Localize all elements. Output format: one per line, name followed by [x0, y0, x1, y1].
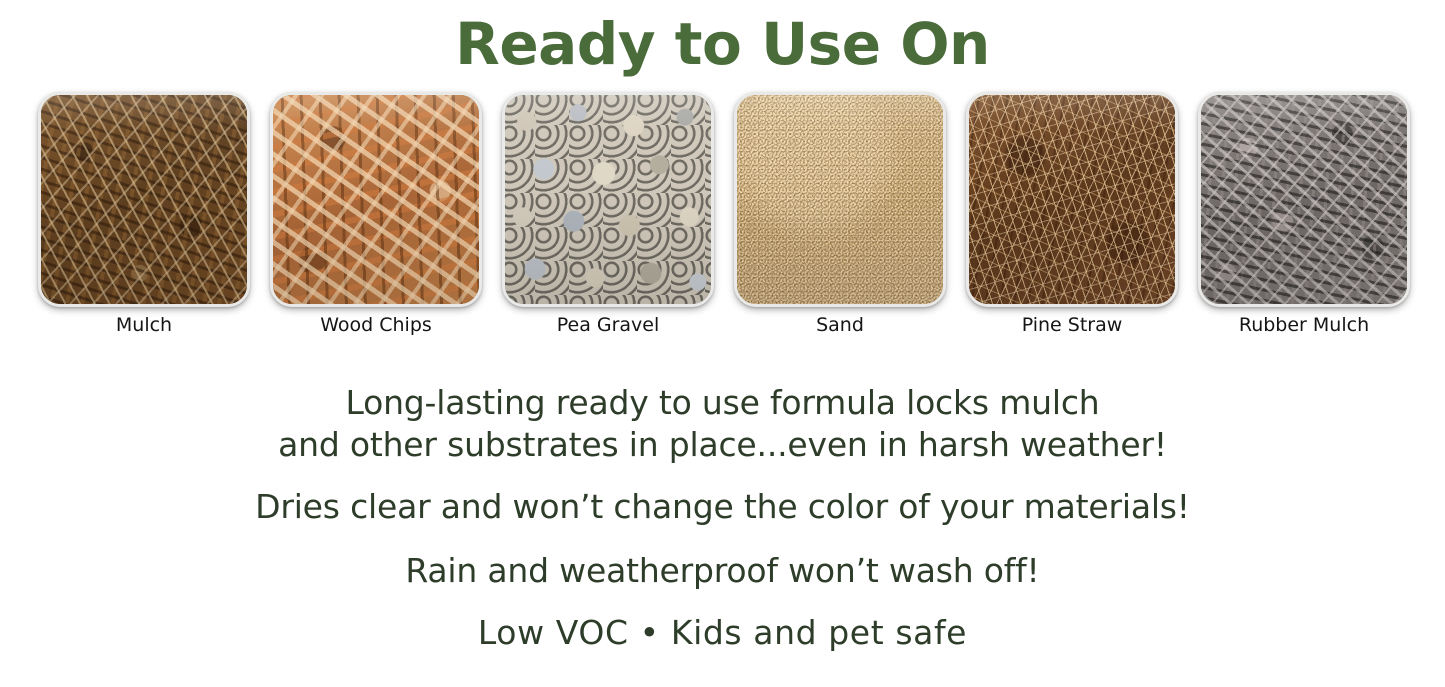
material-swatch-rubber-mulch	[1198, 92, 1410, 307]
poster-root: Ready to Use On	[0, 0, 1445, 687]
material-label-wood-chips: Wood Chips	[270, 313, 482, 337]
copy-paragraph-4: Low VOC • Kids and pet safe	[0, 612, 1445, 654]
copy-line-1a: Long-lasting ready to use formula locks …	[0, 382, 1445, 424]
texture-mulch	[38, 92, 250, 307]
swatch-image-pea-gravel	[502, 92, 714, 307]
material-swatch-mulch	[38, 92, 250, 307]
copy-paragraph-2: Dries clear and won’t change the color o…	[0, 486, 1445, 528]
copy-paragraph-1: Long-lasting ready to use formula locks …	[0, 382, 1445, 466]
texture-pea-gravel	[502, 92, 714, 307]
material-label-rubber-mulch: Rubber Mulch	[1198, 313, 1410, 337]
swatch-image-pine-straw	[966, 92, 1178, 307]
texture-rubber-mulch	[1198, 92, 1410, 307]
material-caption-strip: Mulch Wood Chips Pea Gravel Sand Pine St…	[38, 313, 1410, 337]
copy-paragraph-3: Rain and weatherproof won’t wash off!	[0, 550, 1445, 592]
material-label-sand: Sand	[734, 313, 946, 337]
material-label-mulch: Mulch	[38, 313, 250, 337]
material-label-pine-straw: Pine Straw	[966, 313, 1178, 337]
page-title: Ready to Use On	[0, 8, 1445, 80]
material-swatch-sand	[734, 92, 946, 307]
material-swatch-strip	[38, 92, 1410, 307]
swatch-image-mulch	[38, 92, 250, 307]
copy-line-1b: and other substrates in place...even in …	[0, 424, 1445, 466]
swatch-image-wood-chips	[270, 92, 482, 307]
material-swatch-pea-gravel	[502, 92, 714, 307]
material-swatch-wood-chips	[270, 92, 482, 307]
texture-sand	[734, 92, 946, 307]
texture-pine-straw	[966, 92, 1178, 307]
swatch-image-rubber-mulch	[1198, 92, 1410, 307]
texture-wood-chips	[270, 92, 482, 307]
material-swatch-pine-straw	[966, 92, 1178, 307]
material-label-pea-gravel: Pea Gravel	[502, 313, 714, 337]
swatch-image-sand	[734, 92, 946, 307]
marketing-copy: Long-lasting ready to use formula locks …	[0, 382, 1445, 654]
